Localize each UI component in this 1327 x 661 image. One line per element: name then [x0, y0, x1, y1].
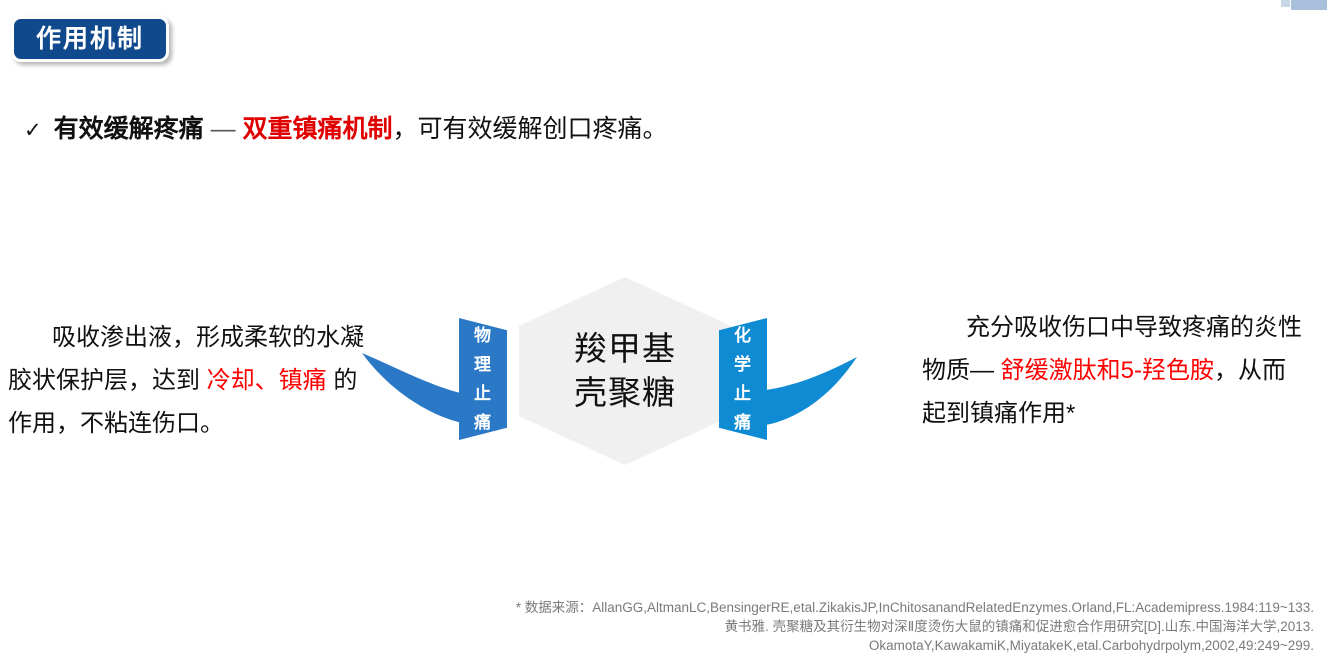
headline-strong-red: 双重镇痛机制 [243, 115, 393, 143]
tab-chemical-analgesia[interactable]: 化学止痛 [719, 318, 767, 440]
left-description-text: 吸收渗出液，形成柔软的水凝胶状保护层，达到 冷却、镇痛 的作用，不粘连伤口。 [8, 316, 368, 445]
tab-physical-label: 物理止痛 [473, 321, 493, 437]
tab-physical-analgesia[interactable]: 物理止痛 [459, 318, 507, 440]
footnote-line-2: 黄书雅. 壳聚糖及其衍生物对深Ⅱ度烫伤大鼠的镇痛和促进愈合作用研究[D].山东.… [0, 617, 1314, 636]
right-swoosh-shape [758, 357, 857, 426]
section-title-label: 作用机制 [36, 27, 144, 52]
top-right-notch [1281, 0, 1290, 7]
center-hexagon-line1: 羧甲基 [574, 327, 676, 371]
checkmark-icon: ✓ [24, 119, 42, 142]
tab-chemical-label: 化学止痛 [733, 321, 753, 437]
footnote-line-1: * 数据来源：AllanGG,AltmanLC,BensingerRE,etal… [0, 598, 1314, 617]
center-hexagon-label: 羧甲基 壳聚糖 [574, 327, 676, 415]
left-swoosh-shape [362, 353, 470, 424]
section-title-badge: 作用机制 [11, 16, 169, 62]
headline-dash: — [204, 115, 243, 143]
right-description-text: 充分吸收伤口中导致疼痛的炎性物质— 舒缓激肽和5-羟色胺，从而起到镇痛作用* [922, 306, 1304, 435]
headline-bullet: ✓有效缓解疼痛 — 双重镇痛机制，可有效缓解创口疼痛。 [24, 112, 668, 148]
center-hexagon-line2: 壳聚糖 [574, 371, 676, 415]
right-text-highlight: 舒缓激肽和5-羟色胺 [1001, 357, 1214, 384]
headline-strong-dark: 有效缓解疼痛 [54, 115, 204, 143]
headline-rest: ，可有效缓解创口疼痛。 [393, 115, 668, 143]
top-right-accent-bar [1291, 0, 1327, 10]
footnote-references: * 数据来源：AllanGG,AltmanLC,BensingerRE,etal… [0, 598, 1320, 655]
left-text-highlight: 冷却、镇痛 [207, 367, 327, 394]
footnote-line-3: OkamotaY,KawakamiK,MiyatakeK,etal.Carboh… [0, 636, 1314, 655]
